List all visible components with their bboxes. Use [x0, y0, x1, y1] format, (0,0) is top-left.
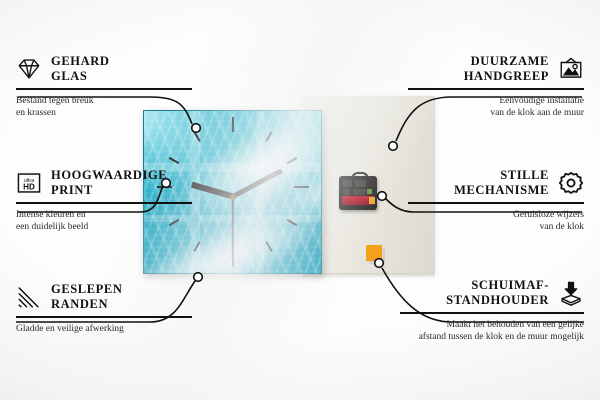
feature-divider — [16, 88, 192, 90]
feature-divider — [408, 202, 584, 204]
feature-desc-line2: een duidelijk beeld — [16, 221, 192, 233]
feature-desc-line1: Bestand tegen breuk — [16, 95, 192, 107]
feature-geslepen-randen[interactable]: GESLEPEN RANDEN Gladde en veilige afwerk… — [16, 282, 192, 335]
feature-hoogwaardige-print[interactable]: ultra HD HOOGWAARDIGE PRINT Intense kleu… — [16, 168, 192, 233]
feature-stille-mechanisme[interactable]: STILLE MECHANISME Geruisloze wijzers van… — [408, 168, 584, 233]
feature-desc-line1: Eenvoudige installatie — [408, 95, 584, 107]
feature-desc-line2: van de klok aan de muur — [408, 107, 584, 119]
feature-desc-line2: van de klok — [408, 221, 584, 233]
feature-title-line1: GEHARD — [51, 54, 109, 69]
feature-desc-line1: Geruisloze wijzers — [408, 209, 584, 221]
feature-title-line2: HANDGREEP — [464, 69, 549, 84]
feature-title-line1: SCHUIMAF- — [446, 278, 549, 293]
feature-divider — [16, 202, 192, 204]
feature-desc-line2: afstand tussen de klok en de muur mogeli… — [400, 331, 584, 343]
foam-spacer-pad — [366, 245, 382, 261]
clock-second-hand — [232, 197, 234, 261]
feature-desc-line1: Intense kleuren en — [16, 209, 192, 221]
feature-gehard-glas[interactable]: GEHARD GLAS Bestand tegen breuk en krass… — [16, 54, 192, 119]
feature-desc-line2: en krassen — [16, 107, 192, 119]
clock-tick-3 — [294, 186, 309, 188]
feature-title-line2: MECHANISME — [454, 183, 549, 198]
clock-movement — [339, 172, 377, 210]
svg-text:HD: HD — [23, 183, 35, 192]
feature-title-line2: GLAS — [51, 69, 109, 84]
diagonal-lines-icon — [16, 284, 42, 310]
battery-plus-terminal — [369, 197, 375, 204]
ultra-hd-icon: ultra HD — [16, 170, 42, 196]
hanging-picture-icon — [558, 56, 584, 82]
feature-title-line1: GESLEPEN — [51, 282, 123, 297]
product-feature-infographic: GEHARD GLAS Bestand tegen breuk en krass… — [0, 0, 600, 400]
feature-title-line1: DUURZAME — [464, 54, 549, 69]
feature-divider — [400, 312, 584, 314]
feature-title-line2: PRINT — [51, 183, 167, 198]
feature-desc-line1: Maakt het behouden van een gelijke — [400, 319, 584, 331]
feature-desc-line1: Gladde en veilige afwerking — [16, 323, 192, 335]
feature-duurzame-handgreep[interactable]: DUURZAME HANDGREEP Eenvoudige installati… — [408, 54, 584, 119]
feature-divider — [408, 88, 584, 90]
clock-center-cap — [230, 194, 236, 200]
gear-icon — [558, 170, 584, 196]
feature-title-line2: STANDHOUDER — [446, 293, 549, 308]
feature-divider — [16, 316, 192, 318]
feature-title-line1: HOOGWAARDIGE — [51, 168, 167, 183]
feature-schuimafstandhouder[interactable]: SCHUIMAF- STANDHOUDER Maakt het behouden… — [400, 278, 584, 343]
diamond-icon — [16, 56, 42, 82]
feature-title-line1: STILLE — [454, 168, 549, 183]
press-down-pad-icon — [558, 280, 584, 306]
feature-title-line2: RANDEN — [51, 297, 123, 312]
clock-tick-12 — [232, 117, 234, 132]
